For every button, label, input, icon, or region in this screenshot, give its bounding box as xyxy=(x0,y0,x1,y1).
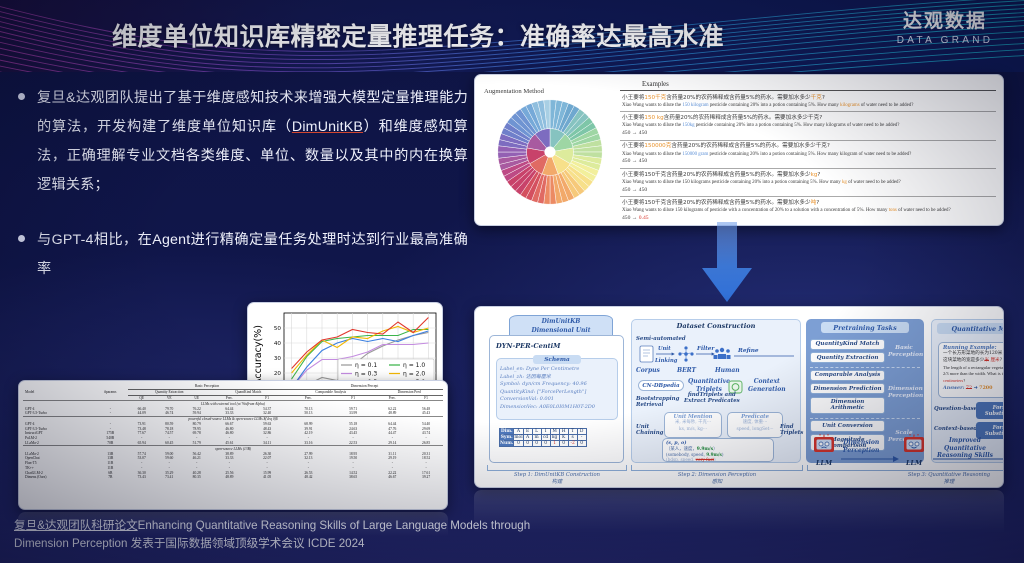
bullet-item: 复旦&达观团队提出了基于维度感知技术来增强大模型定量推理能力的算法，开发构建了维… xyxy=(18,84,468,200)
llm-robot-1: LLM xyxy=(811,433,837,467)
example-result: 450 → 450 xyxy=(622,187,996,195)
step-bracket xyxy=(487,465,627,471)
svg-text:50: 50 xyxy=(274,326,282,332)
results-table: Basic PerceptionDimension PerceptModel#p… xyxy=(23,384,443,480)
step-label: Step 2: Dimension Perception感知 xyxy=(631,472,803,486)
bullet-text: 与GPT-4相比，在Agent进行精确定量任务处理时达到行业最高准确率 xyxy=(37,226,468,284)
step-bracket xyxy=(807,465,1004,471)
example-en: Xiao Wang wants to dilute the 150kg pest… xyxy=(622,122,996,130)
find-triplets-extract-label: findTriplets and Extract Predicates xyxy=(684,392,740,405)
footer-underlined: 复旦&达观团队科研论文 xyxy=(14,519,138,532)
pretraining-tasks-title: Pretraining Tasks xyxy=(821,322,909,333)
dimension-vector-table: Dim.AELIMHTDSym.molAmcdkgKs-Num.000010-2… xyxy=(499,428,587,447)
schema-field: ConversionVal: 0.001 xyxy=(500,396,614,404)
dim-table-cell: 0 xyxy=(523,441,532,447)
svg-text:Refine: Refine xyxy=(737,348,759,354)
format-substitution-question: Format Substitution xyxy=(976,402,1004,419)
example-row: 小王要将150千克含药量20%的农药稀释成含药量5%的药水。需要加水多少吨?Xi… xyxy=(620,197,996,224)
arrow-llm-2-to-3 xyxy=(933,455,1004,463)
svg-text:Human: Human xyxy=(714,367,740,374)
example-en: Xiao Wang wants to dilute the 150 kilogr… xyxy=(622,102,996,110)
robot-icon xyxy=(811,433,837,455)
example-cn: 小王要将150千克含药量20%的农药稀释成含药量5%的药水。需要加水多少千克? xyxy=(622,94,996,102)
dim-table-cell: 1 xyxy=(550,441,559,447)
step-label: Step 3: Quantitative Reasoning推理 xyxy=(807,472,1004,486)
robot-icon xyxy=(901,433,927,455)
dim-table-cell: mol xyxy=(514,435,523,441)
task-group-label: Basic Perception xyxy=(888,345,920,358)
results-table-card: Basic PerceptionDimension PerceptModel#p… xyxy=(18,380,448,510)
schema-field: Symbol: dyn/cm Frequency: 40.96 xyxy=(500,381,614,389)
table-cell: 7B xyxy=(93,475,128,480)
triplet-example-box: (s, p, o) （某人，速度，9.9m/s） (somebody, spee… xyxy=(662,438,774,462)
predicate-box: Predicate 速度, 体重···speed, longSet··· xyxy=(727,412,783,438)
page-title: 维度单位知识库精密定量推理任务：准确率达最高水准 xyxy=(112,17,724,53)
dim-table-cell: Dim. xyxy=(500,429,514,435)
example-cn: 小王要将150千克含药量20%的农药稀释成含药量5%的药水。需要加水多少吨? xyxy=(622,199,996,207)
task-group: QuantityKind MatchQuantity ExtractionBas… xyxy=(810,337,920,368)
answer-old: 72 xyxy=(966,386,972,391)
task-group-label: Dimension Perception xyxy=(888,386,920,399)
running-example-box: Running Example: 一个长方形菜地的长为120米，长比宽多2/3，… xyxy=(938,342,1004,398)
footer-line-2: Dimension Perception 发表于国际数据领域顶级学术会议 ICD… xyxy=(14,535,654,553)
chart-y-axis-label: Accuracy(%) xyxy=(253,325,264,385)
chart-legend-label: η = 0.3 xyxy=(355,371,377,378)
schema-field: Label_en: Dyne Per Centimetre xyxy=(500,366,614,374)
entity-name: DYN-PER-CentiM xyxy=(496,342,623,350)
example-en: Xiao Wang wants to dilute the 150 kilogr… xyxy=(622,179,996,187)
svg-text:40: 40 xyxy=(274,341,282,347)
examples-table: Examples 小王要将150千克含药量20%的农药稀释成含药量5%的药水。需… xyxy=(616,80,996,220)
task-pill[interactable]: Unit Conversion xyxy=(810,420,885,431)
dim-table-cell: 0 xyxy=(577,441,586,447)
bootstrapping-retrieval-label: Bootstrapping Retrieval xyxy=(636,396,679,409)
table-cell: 46.67 xyxy=(375,475,409,480)
svg-text:20: 20 xyxy=(274,371,282,377)
example-en: Xiao Wang wants to dilute the 150000 gra… xyxy=(622,151,996,159)
architecture-diagram-card: DimUnitKB Dimensional Unit Knowledge Bas… xyxy=(474,306,1004,488)
example-row: 小王要将150000克含药量20%的农药稀释成含药量5%的药水。需要加水多少千克… xyxy=(620,141,996,169)
bullet-text: 复旦&达观团队提出了基于维度感知技术来增强大模型定量推理能力的算法，开发构建了维… xyxy=(37,84,468,200)
arrow-llm-1-to-2 xyxy=(841,455,899,463)
svg-text:Unit: Unit xyxy=(658,346,671,352)
answer-label: Answer: xyxy=(943,385,964,391)
example-row: 小王要将150千克含药量20%的农药稀释成含药量5%的药水。需要加水多少千克?X… xyxy=(620,92,996,112)
dataset-construction-title: Dataset Construction xyxy=(632,322,800,330)
augmentation-method-label: Augmentation Method xyxy=(484,88,544,95)
example-cn: 小王要将150 kg含药量20%的农药稀释成含药量5%的药水。需要加水多少千克? xyxy=(622,114,996,122)
step-label-en: Step 3: Quantitative Reasoning xyxy=(807,472,1004,479)
svg-text:Linking: Linking xyxy=(654,358,678,364)
cn-dbpedia-pill: CN-DBpedia xyxy=(638,380,684,391)
example-cn: 小王要将150千克含药量20%的农药稀释成含药量5%的药水。需要加水多少kg? xyxy=(622,171,996,179)
example-result: 450 → 450 xyxy=(622,158,996,166)
example-row: 小王要将150千克含药量20%的农药稀释成含药量5%的药水。需要加水多少kg?X… xyxy=(620,169,996,197)
unit-mention-box: Unit Mention 米, 米每秒, 千克···ks, m/s, kg··· xyxy=(664,412,722,438)
dim-table-cell: 0 xyxy=(532,441,541,447)
example-row: 小王要将150 kg含药量20%的农药稀释成含药量5%的药水。需要加水多少千克?… xyxy=(620,112,996,140)
brand-logo: 达观数据 DATA GRAND xyxy=(882,12,1008,46)
table-cell: Dimens.(Ours) xyxy=(23,475,93,480)
dim-table-cell: Sym. xyxy=(500,435,514,441)
kb-title-1: DimUnitKB xyxy=(510,318,612,327)
step-label-cn: 构建 xyxy=(487,479,627,486)
task-pill[interactable]: Dimension Prediction xyxy=(810,383,885,394)
slide-header: 维度单位知识库精密定量推理任务：准确率达最高水准 达观数据 DATA GRAND xyxy=(0,0,1024,72)
dimension-perception-arrow-label: Dimension Perception xyxy=(843,439,879,454)
bullet-dot-icon xyxy=(18,235,25,242)
step-label: Step 1: DimUnitKB Construction构建 xyxy=(487,472,627,486)
task-group: Comparable AnalysisDimension PredictionD… xyxy=(810,368,920,419)
step2-panel: Dataset Construction Semi-automated Corp… xyxy=(631,319,801,463)
svg-text:30: 30 xyxy=(274,356,282,362)
slide-root: 维度单位知识库精密定量推理任务：准确率达最高水准 达观数据 DATA GRAND… xyxy=(0,0,1024,563)
context-based-label: Context-based xyxy=(934,426,977,432)
qmwp-title: Quantitative Math Word Problem xyxy=(937,323,1004,334)
table-cell: 73.43 xyxy=(128,475,156,480)
chart-legend-label: η = 2.0 xyxy=(403,371,425,378)
context-generation-label: Context Generation xyxy=(748,378,786,393)
semi-automated-pipeline: Corpus Unit Linking BERT Filter Human Re… xyxy=(634,342,800,378)
schema-label: Schema xyxy=(533,355,581,364)
find-triplets-label: Find Triplets xyxy=(780,424,803,437)
cn-dbpedia-label: CN-DBpedia xyxy=(639,381,683,391)
answer-new: 7200 xyxy=(979,385,992,391)
logo-text-en: DATA GRAND xyxy=(882,35,1008,46)
table-cell: 48.42 xyxy=(286,475,331,480)
example-en: Xiao Wang wants to dilute 150 kilograms … xyxy=(622,207,996,215)
sunburst-chart-icon xyxy=(496,98,604,206)
step-label-en: Step 1: DimUnitKB Construction xyxy=(487,472,627,479)
table-cell: 48.89 xyxy=(210,475,248,480)
unit-chaining-label: Unit Chaining xyxy=(636,424,663,437)
dim-table-cell: Num. xyxy=(500,441,514,447)
example-result: 450 → 0.45 xyxy=(622,215,996,223)
dim-table-cell: 0 xyxy=(559,441,568,447)
logo-text-cn: 达观数据 xyxy=(882,12,1008,33)
dim-table-row: Num.000010-20 xyxy=(500,441,587,447)
table-cell: 39.27 xyxy=(409,475,443,480)
step-label-en: Step 2: Dimension Perception xyxy=(631,472,803,479)
table-cell: 80.35 xyxy=(183,475,211,480)
dim-table-cell: 0 xyxy=(541,441,550,447)
footer-line-1: 复旦&达观团队科研论文Enhancing Quantitative Reason… xyxy=(14,517,654,535)
augmentation-examples-card: Augmentation Method Examples 小王要将150千克含药… xyxy=(474,74,1004,226)
svg-text:BERT: BERT xyxy=(676,367,697,374)
llm-robot-2: LLM xyxy=(901,433,927,467)
chart-legend-label: η = 0.1 xyxy=(355,362,377,369)
schema-box: Schema Label_en: Dyne Per CentimetreLabe… xyxy=(496,358,618,420)
footer-caption: 复旦&达观团队科研论文Enhancing Quantitative Reason… xyxy=(14,517,654,553)
step-bracket xyxy=(631,465,803,471)
schema-field: DimensionVec: A0E0L0I0M1H0T-2D0 xyxy=(500,404,614,412)
step1-panel: DYN-PER-CentiM Schema Label_en: Dyne Per… xyxy=(489,335,624,463)
augmentation-method-figure: Augmentation Method xyxy=(482,80,616,220)
bullet-underlined-term: DimUnitKB xyxy=(292,119,363,135)
task-pill[interactable]: QuantityKind Match xyxy=(810,339,885,350)
dim-table-cell: -2 xyxy=(568,441,577,447)
step-label-cn: 推理 xyxy=(807,479,1004,486)
table-cell: 73.41 xyxy=(155,475,183,480)
svg-text:Corpus: Corpus xyxy=(636,367,660,374)
dim-table-cell: 0 xyxy=(514,441,523,447)
bullet-item: 与GPT-4相比，在Agent进行精确定量任务处理时达到行业最高准确率 xyxy=(18,226,468,284)
bullet-list: 复旦&达观团队提出了基于维度感知技术来增强大模型定量推理能力的算法，开发构建了维… xyxy=(18,84,468,310)
dim-table-row: Sym.molAmcdkgKs- xyxy=(500,435,587,441)
down-arrow-icon xyxy=(700,222,754,310)
question-based-label: Question-based xyxy=(934,406,981,412)
example-result: 450 → 450 xyxy=(622,130,996,138)
table-cell: 38.65 xyxy=(331,475,376,480)
table-row: Dimens.(Ours)7B73.4373.4180.3548.8941.05… xyxy=(23,475,443,480)
schema-field: Label_zh: 达因每厘米 xyxy=(500,374,614,382)
task-pill[interactable]: Comparable Analysis xyxy=(810,370,885,381)
task-pill[interactable]: Quantity Extraction xyxy=(810,352,885,363)
bullet-dot-icon xyxy=(18,93,25,100)
example-cn: 小王要将150000克含药量20%的农药稀释成含药量5%的药水。需要加水多少千克… xyxy=(622,142,996,150)
svg-text:Filter: Filter xyxy=(696,346,715,352)
chart-legend-label: η = 1.0 xyxy=(403,362,425,369)
task-pill[interactable]: Dimension Arithmetic xyxy=(810,397,885,414)
schema-field: QuantityKind: ["ForcePerLength"] xyxy=(500,389,614,397)
table-cell: 41.05 xyxy=(248,475,286,480)
step-label-cn: 感知 xyxy=(631,479,803,486)
examples-header: Examples xyxy=(620,80,996,91)
quantitative-triplets-label: Quantitative Triplets xyxy=(688,378,730,393)
